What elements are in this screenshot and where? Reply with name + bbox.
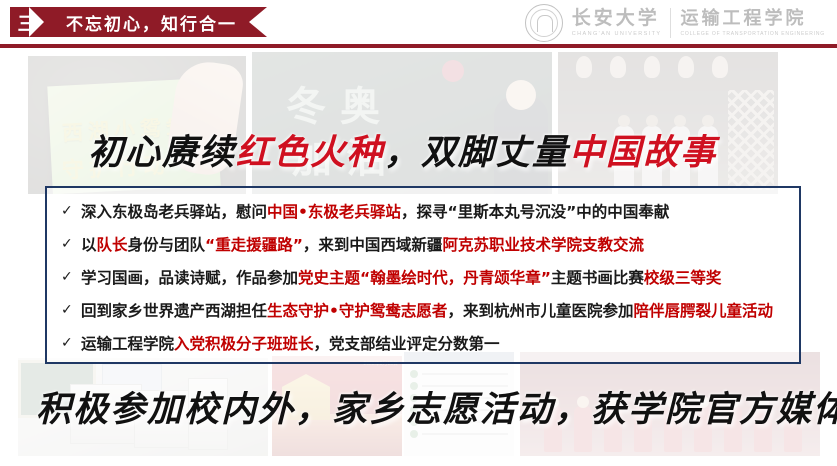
text-segment: 主题书画比赛 bbox=[551, 269, 644, 287]
check-icon: ✓ bbox=[61, 198, 81, 221]
text-segment-highlight: 中国•东极老兵驿站 bbox=[267, 203, 401, 221]
text-segment: ，来到杭州市儿童医院参加 bbox=[447, 302, 633, 320]
text-segment: 回到家乡世界遗产西湖担任 bbox=[81, 302, 267, 320]
list-item-text: 学习国画，品读诗赋，作品参加党史主题“翰墨绘时代，丹青颂华章”主题书画比赛校级三… bbox=[81, 264, 721, 290]
university-name-cn: 长安大学 bbox=[572, 9, 662, 28]
list-item: ✓ 深入东极岛老兵驿站，慰问中国•东极老兵驿站，探寻“里斯本丸号沉没”中的中国奉… bbox=[61, 198, 789, 231]
achievement-panel: ✓ 深入东极岛老兵驿站，慰问中国•东极老兵驿站，探寻“里斯本丸号沉没”中的中国奉… bbox=[45, 186, 801, 364]
headline-top-seg-3: ，双脚丈量 bbox=[384, 133, 569, 173]
university-seal-icon bbox=[525, 4, 563, 42]
headline-top-seg-4: 中国故事 bbox=[569, 133, 717, 173]
lantern-shape bbox=[678, 56, 694, 78]
header-red-rule bbox=[0, 44, 837, 48]
lantern-shape bbox=[712, 56, 728, 78]
list-item: ✓ 以队长身份与团队“重走援疆路”，来到中国西域新疆阿克苏职业技术学院支教交流 bbox=[61, 231, 789, 264]
list-item-text: 以队长身份与团队“重走援疆路”，来到中国西域新疆阿克苏职业技术学院支教交流 bbox=[81, 231, 644, 257]
headline-top: 初心赓续红色火种，双脚丈量中国故事 bbox=[88, 124, 717, 175]
text-segment-highlight: 阿克苏职业技术学院支教交流 bbox=[442, 236, 644, 254]
headline-bottom-seg-1: 积极参加校内外，家乡志愿活动，获学院官方媒体 bbox=[36, 390, 837, 430]
achievement-list: ✓ 深入东极岛老兵驿站，慰问中国•东极老兵驿站，探寻“里斯本丸号沉没”中的中国奉… bbox=[61, 198, 789, 363]
text-segment-highlight: 生态守护•守护鸳鸯志愿者 bbox=[267, 302, 447, 320]
text-segment-highlight: 队长 bbox=[97, 236, 128, 254]
page-title: 不忘初心，知行合一 bbox=[66, 10, 237, 35]
text-segment-highlight: 陪伴唇腭裂儿童活动 bbox=[633, 302, 773, 320]
logo-divider bbox=[670, 8, 671, 38]
college-name-en: COLLEGE OF TRANSPORTATION ENGINEERING bbox=[680, 32, 825, 37]
lantern-shape bbox=[576, 56, 592, 78]
list-item: ✓ 学习国画，品读诗赋，作品参加党史主题“翰墨绘时代，丹青颂华章”主题书画比赛校… bbox=[61, 264, 789, 297]
university-name-block: 长安大学 CHANG'AN UNIVERSITY bbox=[572, 9, 662, 38]
section-banner: 三 不忘初心，知行合一 bbox=[10, 7, 267, 37]
check-icon: ✓ bbox=[61, 297, 81, 320]
text-segment-highlight: “重走援疆路” bbox=[205, 236, 303, 254]
university-logo-lockup: 长安大学 CHANG'AN UNIVERSITY 运输工程学院 COLLEGE … bbox=[525, 4, 825, 42]
text-segment-highlight: 入党积极分子班班长 bbox=[174, 335, 314, 353]
text-segment: 以 bbox=[81, 236, 97, 254]
text-segment-highlight: 校级三等奖 bbox=[644, 269, 722, 287]
check-icon: ✓ bbox=[61, 231, 81, 254]
list-item-text: 回到家乡世界遗产西湖担任生态守护•守护鸳鸯志愿者，来到杭州市儿童医院参加陪伴唇腭… bbox=[81, 297, 773, 323]
list-item: ✓ 运输工程学院入党积极分子班班长，党支部结业评定分数第一 bbox=[61, 330, 789, 363]
college-name-cn: 运输工程学院 bbox=[680, 10, 825, 28]
text-segment: 运输工程学院 bbox=[81, 335, 174, 353]
text-segment: 深入东极岛老兵驿站，慰问 bbox=[81, 203, 267, 221]
text-segment: ，探寻“里斯本丸号沉没”中的中国奉献 bbox=[401, 203, 669, 221]
list-item: ✓ 回到家乡世界遗产西湖担任生态守护•守护鸳鸯志愿者，来到杭州市儿童医院参加陪伴… bbox=[61, 297, 789, 330]
text-segment-highlight: 党史主题“翰墨绘时代，丹青颂华章” bbox=[298, 269, 551, 287]
presentation-slide: 西湖小鸳鸯 守护行动 冬奥 加油 bbox=[0, 0, 837, 466]
headline-top-seg-2: 红色火种 bbox=[236, 133, 384, 173]
check-icon: ✓ bbox=[61, 264, 81, 287]
list-item-text: 运输工程学院入党积极分子班班长，党支部结业评定分数第一 bbox=[81, 330, 500, 356]
text-segment: ，来到中国西域新疆 bbox=[303, 236, 443, 254]
section-title-ribbon: 不忘初心，知行合一 bbox=[44, 7, 267, 37]
text-segment: 学习国画，品读诗赋，作品参加 bbox=[81, 269, 298, 287]
university-name-en: CHANG'AN UNIVERSITY bbox=[572, 32, 662, 38]
list-item-text: 深入东极岛老兵驿站，慰问中国•东极老兵驿站，探寻“里斯本丸号沉没”中的中国奉献 bbox=[81, 198, 669, 224]
sticker-shape bbox=[442, 60, 464, 82]
lattice-screen bbox=[728, 90, 774, 190]
lantern-shape bbox=[644, 56, 660, 78]
headline-bottom: 积极参加校内外，家乡志愿活动，获学院官方媒体推送 bbox=[36, 381, 837, 432]
lantern-shape bbox=[610, 56, 626, 78]
headline-top-seg-1: 初心赓续 bbox=[88, 133, 236, 173]
check-icon: ✓ bbox=[61, 330, 81, 353]
college-name-block: 运输工程学院 COLLEGE OF TRANSPORTATION ENGINEE… bbox=[680, 10, 825, 37]
text-segment: 身份与团队 bbox=[128, 236, 206, 254]
text-segment: ，党支部结业评定分数第一 bbox=[314, 335, 500, 353]
